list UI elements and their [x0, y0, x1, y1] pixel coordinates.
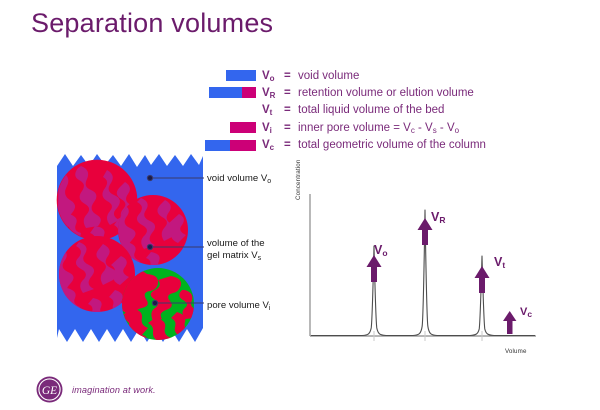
legend-equals: =	[284, 122, 298, 134]
chart-annotation-arrows	[367, 218, 517, 334]
legend-symbol-sub: i	[270, 126, 272, 135]
legend-row: Vt = total liquid volume of the bed	[204, 102, 554, 119]
swatch-blue	[209, 87, 242, 98]
legend-symbol-sub: o	[270, 74, 275, 83]
ge-tagline: imagination at work.	[72, 385, 156, 395]
legend: Vo = void volume VR = retention volume o…	[204, 67, 554, 154]
legend-swatch-vr	[204, 84, 262, 101]
chart-peak-label-vr: VR	[431, 210, 445, 224]
legend-symbol: Vt	[262, 104, 284, 116]
peak-label-sub: o	[382, 248, 387, 258]
peak-label-sub: c	[527, 309, 532, 319]
chromatogram-chart	[292, 188, 547, 358]
callout-pore-sub: i	[269, 305, 271, 312]
legend-row: Vc = total geometric volume of the colum…	[204, 137, 554, 154]
callout-void-volume: void volume Vo	[207, 173, 271, 186]
legend-symbol-sub: t	[270, 108, 273, 117]
chart-ylabel: Concentration	[295, 160, 302, 200]
legend-symbol-sub: R	[270, 91, 276, 100]
chart-peak-label-vt: Vt	[494, 255, 505, 269]
callout-pore-text: pore volume V	[207, 300, 269, 311]
legend-symbol: Vi	[262, 122, 284, 134]
callout-void-sub: o	[267, 178, 271, 185]
callout-gel-matrix-volume: volume of the gel matrix Vs	[207, 238, 265, 262]
legend-row: Vi = inner pore volume = Vc - Vs - Vo	[204, 119, 554, 136]
legend-equals: =	[284, 139, 298, 151]
callout-pore-volume: pore volume Vi	[207, 300, 270, 313]
legend-row: VR = retention volume or elution volume	[204, 84, 554, 101]
swatch-blue	[205, 140, 230, 151]
legend-symbol: VR	[262, 87, 284, 99]
legend-symbol: Vc	[262, 139, 284, 151]
callout-gelmatrix-line2-wrap: gel matrix Vs	[207, 250, 265, 263]
legend-description: retention volume or elution volume	[298, 87, 474, 99]
legend-swatch-vt	[204, 102, 262, 119]
legend-equals: =	[284, 104, 298, 116]
page-title: Separation volumes	[31, 8, 273, 39]
packed-bed-column-illustration	[55, 152, 205, 362]
legend-symbol-sub: c	[270, 143, 274, 152]
legend-description: total liquid volume of the bed	[298, 104, 444, 116]
svg-text:GE: GE	[42, 385, 57, 397]
legend-description: total geometric volume of the column	[298, 139, 486, 151]
peak-label-sub: t	[502, 260, 505, 270]
legend-description: void volume	[298, 70, 359, 82]
legend-equals: =	[284, 87, 298, 99]
legend-symbol: Vo	[262, 70, 284, 82]
swatch-magenta	[242, 87, 256, 98]
callout-gelmatrix-sub: s	[258, 255, 262, 262]
chart-peak-label-vc: Vc	[520, 306, 532, 318]
arrow-vo	[367, 255, 382, 282]
arrow-vc	[503, 311, 516, 334]
legend-swatch-vo	[204, 67, 262, 84]
ge-logo: GE imagination at work.	[36, 376, 156, 403]
callout-gelmatrix-line1: volume of the	[207, 238, 265, 250]
arrow-vt	[475, 266, 490, 293]
chart-xlabel: Volume	[505, 348, 527, 355]
chart-peak-label-vo: Vo	[374, 243, 388, 257]
callout-void-text: void volume V	[207, 173, 267, 184]
legend-description: inner pore volume = Vc - Vs - Vo	[298, 122, 459, 134]
swatch-blue	[226, 70, 256, 81]
legend-swatch-vc	[204, 137, 262, 154]
ge-monogram-icon: GE	[36, 376, 63, 403]
swatch-magenta	[230, 140, 256, 151]
legend-equals: =	[284, 70, 298, 82]
peak-label-sub: R	[439, 215, 445, 225]
callout-gelmatrix-line2: gel matrix V	[207, 250, 258, 261]
legend-row: Vo = void volume	[204, 67, 554, 84]
swatch-magenta	[230, 122, 256, 133]
legend-swatch-vi	[204, 119, 262, 136]
